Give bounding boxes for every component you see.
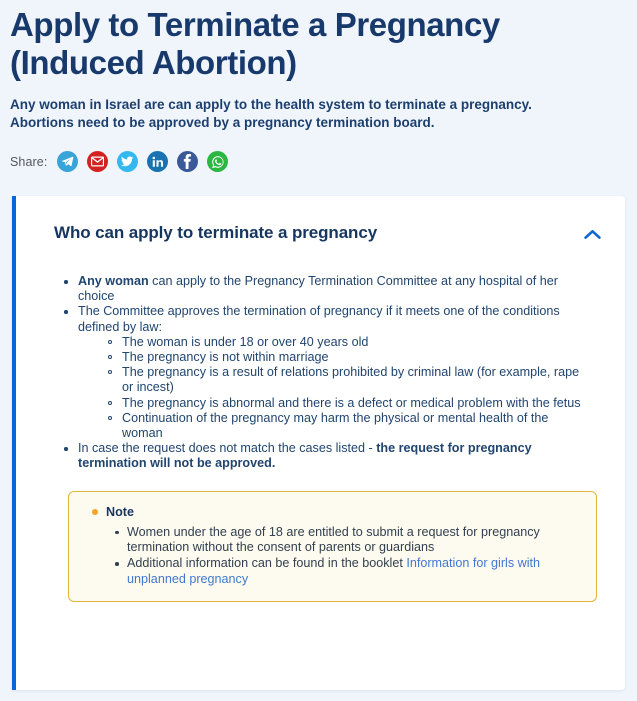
accordion-body: Any woman can apply to the Pregnancy Ter… <box>16 244 625 602</box>
share-email-button[interactable] <box>87 151 108 172</box>
share-facebook-button[interactable] <box>177 151 198 172</box>
share-telegram-button[interactable] <box>57 151 78 172</box>
whatsapp-icon <box>211 155 225 169</box>
share-row: Share: <box>0 151 637 172</box>
list-item: Any woman can apply to the Pregnancy Ter… <box>60 274 591 304</box>
sub-conditions-list: The woman is under 18 or over 40 years o… <box>105 335 591 441</box>
accordion-toggle-button[interactable] <box>582 225 603 244</box>
bullet-text: The Committee approves the termination o… <box>78 304 560 333</box>
chevron-up-icon <box>584 228 601 243</box>
share-twitter-button[interactable] <box>117 151 138 172</box>
bullet-text: can apply to the Pregnancy Termination C… <box>78 274 558 303</box>
page-subtitle: Any woman in Israel are can apply to the… <box>10 96 595 131</box>
list-item: Women under the age of 18 are entitled t… <box>113 525 580 556</box>
list-item: The woman is under 18 or over 40 years o… <box>105 335 591 350</box>
note-header: Note <box>85 505 580 520</box>
bullet-text: In case the request does not match the c… <box>78 441 376 455</box>
accordion-title: Who can apply to terminate a pregnancy <box>54 222 377 244</box>
page-root: Apply to Terminate a Pregnancy (Induced … <box>0 0 637 701</box>
twitter-icon <box>121 155 134 168</box>
share-linkedin-button[interactable] <box>147 151 168 172</box>
accordion-panel: Who can apply to terminate a pregnancy A… <box>12 196 625 690</box>
list-item: The pregnancy is abnormal and there is a… <box>105 396 591 411</box>
note-list: Women under the age of 18 are entitled t… <box>113 525 580 587</box>
bullet-lead-bold: Any woman <box>78 274 149 288</box>
telegram-icon <box>61 155 74 168</box>
note-title: Note <box>106 505 134 520</box>
list-item: Additional information can be found in t… <box>113 556 580 587</box>
list-item: In case the request does not match the c… <box>60 441 591 471</box>
share-label: Share: <box>10 155 47 169</box>
email-icon <box>91 156 104 167</box>
linkedin-icon <box>152 156 164 168</box>
conditions-list: Any woman can apply to the Pregnancy Ter… <box>60 274 591 472</box>
list-item: The pregnancy is a result of relations p… <box>105 365 591 395</box>
note-bullet-icon <box>92 509 98 515</box>
accordion-header[interactable]: Who can apply to terminate a pregnancy <box>16 196 625 244</box>
list-item: The pregnancy is not within marriage <box>105 350 591 365</box>
list-item: Continuation of the pregnancy may harm t… <box>105 411 591 441</box>
note-box: Note Women under the age of 18 are entit… <box>68 491 597 603</box>
note-item-text: Additional information can be found in t… <box>127 556 406 570</box>
list-item: The Committee approves the termination o… <box>60 304 591 441</box>
facebook-icon <box>183 154 192 169</box>
page-header: Apply to Terminate a Pregnancy (Induced … <box>0 0 637 131</box>
share-whatsapp-button[interactable] <box>207 151 228 172</box>
page-title: Apply to Terminate a Pregnancy (Induced … <box>10 6 570 82</box>
